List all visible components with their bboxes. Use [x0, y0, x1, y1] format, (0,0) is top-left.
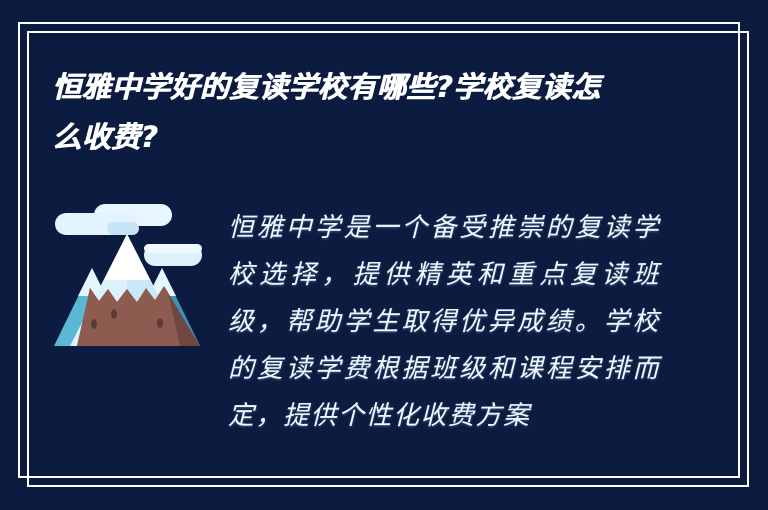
rock-spot — [91, 319, 97, 329]
snow-mountain-illustration — [52, 196, 202, 361]
center-peak-highlight — [104, 234, 150, 280]
page-title: 恒雅中学好的复读学校有哪些?学校复读怎么收费? — [52, 62, 612, 162]
rock-spot — [111, 309, 117, 319]
body-paragraph: 恒雅中学是一个备受推崇的复读学校选择，提供精英和重点复读班级，帮助学生取得优异成… — [228, 205, 660, 440]
snow-mountain-icon — [52, 196, 202, 361]
rock-spot — [157, 318, 163, 328]
poster-canvas: 恒雅中学好的复读学校有哪些?学校复读怎么收费? — [0, 0, 768, 510]
